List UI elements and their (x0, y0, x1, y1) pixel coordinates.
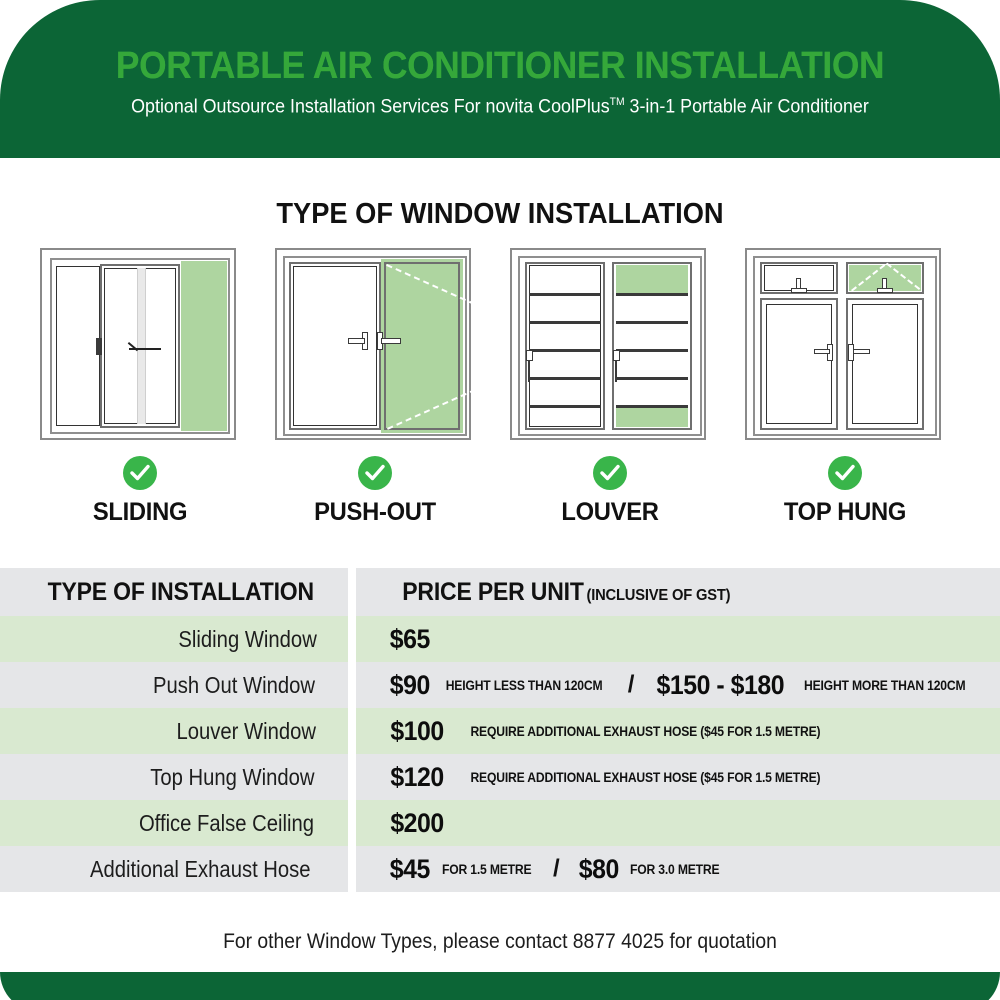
table-cell-price: $65 (356, 616, 1000, 662)
installation-type-label: Office False Ceiling (139, 810, 314, 837)
page-title: PORTABLE AIR CONDITIONER INSTALLATION (35, 0, 965, 85)
table-header-cell-price: PRICE PER UNIT(INCLUSIVE OF GST) (356, 568, 1000, 616)
column-gap (348, 708, 356, 754)
installation-type-label: Additional Exhaust Hose (90, 856, 311, 883)
price-note-primary: FOR 1.5 METRE (442, 862, 531, 877)
price-value-primary: $90 (390, 670, 430, 701)
price-value-primary: $200 (390, 808, 443, 839)
window-types-row: SLIDING (0, 248, 1000, 538)
check-circle-icon (593, 456, 627, 490)
price-value-primary: $45 (390, 854, 430, 885)
price-separator: / (628, 671, 635, 699)
price-value-secondary: $80 (578, 854, 618, 885)
window-type-card-sliding: SLIDING (40, 248, 240, 527)
column-gap (348, 800, 356, 846)
price-value-primary: $100 (390, 716, 443, 747)
louver-window-diagram (510, 248, 706, 440)
trademark-symbol: TM (610, 96, 625, 108)
header-banner: PORTABLE AIR CONDITIONER INSTALLATION Op… (0, 0, 1000, 158)
price-value-secondary: $150 - $180 (657, 670, 785, 701)
column-gap (348, 616, 356, 662)
check-circle-icon (828, 456, 862, 490)
check-circle-icon (123, 456, 157, 490)
sliding-window-diagram (40, 248, 236, 440)
footer-note: For other Window Types, please contact 8… (40, 930, 960, 954)
installation-type-label: Sliding Window (178, 626, 316, 653)
window-type-label: SLIDING (45, 498, 235, 527)
pricing-table: TYPE OF INSTALLATION PRICE PER UNIT(INCL… (0, 568, 1000, 892)
table-cell-type: Office False Ceiling (0, 800, 348, 846)
column-gap (348, 662, 356, 708)
table-row: Push Out Window $90 HEIGHT LESS THAN 120… (0, 662, 1000, 708)
installation-type-label: Louver Window (177, 718, 317, 745)
window-type-card-push-out: PUSH-OUT (275, 248, 475, 527)
table-cell-price: $90 HEIGHT LESS THAN 120CM / $150 - $180… (356, 662, 1000, 708)
table-cell-type: Push Out Window (0, 662, 348, 708)
table-cell-type: Additional Exhaust Hose (0, 846, 348, 892)
table-row: Sliding Window $65 (0, 616, 1000, 662)
table-cell-price: $100 REQUIRE ADDITIONAL EXHAUST HOSE ($4… (356, 708, 1000, 754)
table-row: Additional Exhaust Hose $45 FOR 1.5 METR… (0, 846, 1000, 892)
window-type-card-louver: LOUVER (510, 248, 710, 527)
window-type-card-top-hung: TOP HUNG (745, 248, 945, 527)
subtitle-post: 3-in-1 Portable Air Conditioner (625, 96, 869, 117)
table-cell-type: Top Hung Window (0, 754, 348, 800)
window-type-label: TOP HUNG (750, 498, 940, 527)
window-type-label: LOUVER (515, 498, 705, 527)
column-gap (348, 846, 356, 892)
price-header-gst-note: (INCLUSIVE OF GST) (586, 587, 730, 604)
table-row: Louver Window $100 REQUIRE ADDITIONAL EX… (0, 708, 1000, 754)
table-cell-price: $200 (356, 800, 1000, 846)
price-note-primary: HEIGHT LESS THAN 120CM (445, 678, 602, 693)
table-header-cell-type: TYPE OF INSTALLATION (0, 568, 348, 616)
price-note-primary: REQUIRE ADDITIONAL EXHAUST HOSE ($45 FOR… (471, 724, 821, 739)
price-value-primary: $65 (390, 624, 430, 655)
page-subtitle: Optional Outsource Installation Services… (30, 85, 970, 116)
table-cell-type: Sliding Window (0, 616, 348, 662)
column-gap (348, 568, 356, 616)
table-row: Top Hung Window $120 REQUIRE ADDITIONAL … (0, 754, 1000, 800)
check-circle-icon (358, 456, 392, 490)
infographic-page: PORTABLE AIR CONDITIONER INSTALLATION Op… (0, 0, 1000, 1000)
table-cell-price: $45 FOR 1.5 METRE / $80 FOR 3.0 METRE (356, 846, 1000, 892)
installation-type-label: Top Hung Window (151, 764, 315, 791)
price-header-main: PRICE PER UNIT (402, 578, 583, 606)
price-note-primary: REQUIRE ADDITIONAL EXHAUST HOSE ($45 FOR… (471, 770, 821, 785)
window-type-label: PUSH-OUT (280, 498, 470, 527)
table-header-label-type: TYPE OF INSTALLATION (48, 578, 314, 607)
top-hung-window-diagram (745, 248, 941, 440)
table-header-label-price: PRICE PER UNIT(INCLUSIVE OF GST) (402, 578, 730, 607)
installation-type-label: Push Out Window (153, 672, 315, 699)
column-gap (348, 754, 356, 800)
footer-bar (0, 972, 1000, 1000)
table-cell-price: $120 REQUIRE ADDITIONAL EXHAUST HOSE ($4… (356, 754, 1000, 800)
section-title: TYPE OF WINDOW INSTALLATION (30, 198, 970, 231)
table-header-row: TYPE OF INSTALLATION PRICE PER UNIT(INCL… (0, 568, 1000, 616)
push-out-window-diagram (275, 248, 471, 440)
price-note-secondary: HEIGHT MORE THAN 120CM (804, 678, 965, 693)
table-row: Office False Ceiling $200 (0, 800, 1000, 846)
table-cell-type: Louver Window (0, 708, 348, 754)
price-value-primary: $120 (390, 762, 443, 793)
subtitle-pre: Optional Outsource Installation Services… (131, 96, 609, 117)
price-separator: / (553, 855, 560, 883)
price-note-secondary: FOR 3.0 METRE (630, 862, 719, 877)
